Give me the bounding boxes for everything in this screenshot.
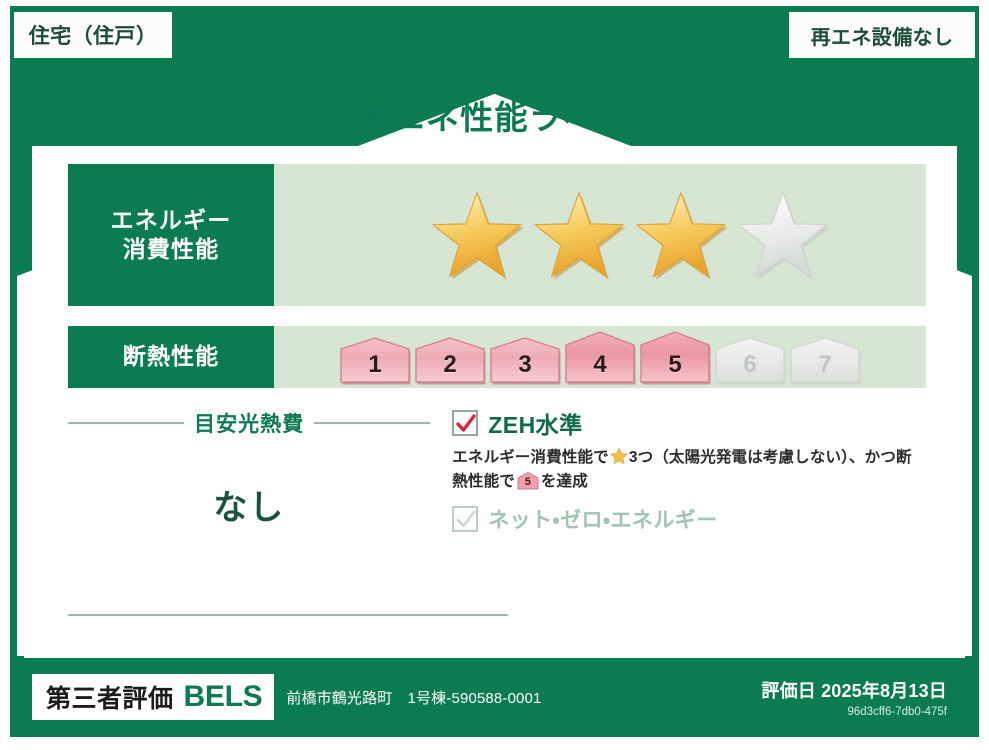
energy-performance-label: エネルギー 消費性能 — [68, 164, 274, 306]
mini-grade-badge: 5 — [517, 471, 539, 490]
category-chip: 住宅（住戸） — [14, 12, 172, 58]
insulation-grade-number: 2 — [413, 351, 487, 379]
rule-left — [68, 422, 184, 424]
energy-performance-body — [274, 164, 926, 306]
star-filled-icon — [429, 189, 525, 281]
utility-cost-block: 目安光熱費 なし — [68, 404, 430, 634]
zeh-checkbox[interactable] — [452, 410, 478, 436]
net-zero-energy-row[interactable]: ネット・ゼロ・エネルギー — [452, 504, 926, 534]
insulation-performance-row: 断熱性能 1234567 — [68, 326, 926, 388]
insulation-grade-number: 7 — [788, 351, 862, 379]
zeh-standard-label: ZEH水準 — [488, 406, 582, 440]
insulation-label-text: 断熱性能 — [123, 342, 220, 371]
star-filled-icon — [531, 189, 627, 281]
energy-label-line1: エネルギー — [111, 206, 232, 235]
info-section: 目安光熱費 なし ZEH水準 — [68, 404, 926, 634]
category-chip-label: 住宅（住戸） — [29, 20, 158, 50]
star-empty-icon — [735, 189, 831, 281]
zeh-desc-part1: エネルギー消費性能で — [452, 449, 609, 466]
insulation-grade-number: 4 — [563, 351, 637, 379]
bels-badge: 第三者評価 BELS — [32, 674, 274, 720]
mini-grade-number: 5 — [517, 474, 539, 491]
renewable-chip-label: 再エネ設備なし — [811, 21, 954, 50]
utility-cost-value: なし — [68, 480, 430, 529]
bels-energy-label: 住宅（住戸） 再エネ設備なし 建築物省エネ法に基づく 省エネ性能ラベル エネルギ… — [0, 0, 989, 750]
insulation-grade-7: 7 — [788, 336, 862, 385]
insulation-grade-number: 6 — [713, 351, 787, 379]
footer-bar: 第三者評価 BELS 前橋市鶴光路町 1号棟-590588-0001 評価日 2… — [32, 664, 957, 730]
insulation-grade-number: 5 — [638, 351, 712, 379]
star-rating — [429, 189, 831, 281]
evaluation-date: 評価日 2025年8月13日 — [761, 677, 947, 703]
insulation-grade-5: 5 — [638, 330, 712, 385]
zeh-desc-stars: 3つ — [629, 449, 653, 466]
label-card: 住宅（住戸） 再エネ設備なし 建築物省エネ法に基づく 省エネ性能ラベル エネルギ… — [10, 6, 979, 737]
star-filled-icon — [633, 189, 729, 281]
insulation-grade-3: 3 — [488, 336, 562, 385]
mini-star-icon — [610, 447, 628, 465]
check-icon-faded — [456, 510, 476, 530]
insulation-performance-label: 断熱性能 — [68, 326, 274, 388]
check-icon — [456, 414, 476, 434]
title-subtitle: 建築物省エネ法に基づく — [10, 72, 979, 95]
zeh-description: エネルギー消費性能で3つ（太陽光発電は考慮しない）、かつ断熱性能で5を達成 — [452, 446, 926, 494]
insulation-grade-scale: 1234567 — [338, 330, 862, 385]
net-zero-energy-checkbox[interactable] — [452, 506, 478, 532]
evaluation-id: 96d3cff6-7db0-475f — [761, 706, 947, 718]
title-block: 建築物省エネ法に基づく 省エネ性能ラベル — [10, 72, 979, 137]
insulation-grade-2: 2 — [413, 336, 487, 385]
utility-cost-heading: 目安光熱費 — [68, 408, 430, 438]
utility-cost-heading-label: 目安光熱費 — [194, 408, 304, 438]
bels-badge-en: BELS — [184, 680, 263, 714]
insulation-grade-number: 1 — [338, 351, 412, 379]
renewable-chip: 再エネ設備なし — [789, 12, 975, 58]
energy-performance-row: エネルギー 消費性能 — [68, 164, 926, 306]
zeh-desc-part3: を達成 — [541, 473, 588, 490]
insulation-grade-4: 4 — [563, 330, 637, 385]
footer-evaluation: 評価日 2025年8月13日 96d3cff6-7db0-475f — [761, 677, 957, 718]
insulation-grade-1: 1 — [338, 336, 412, 385]
bels-badge-jp: 第三者評価 — [46, 679, 174, 715]
page-title: 省エネ性能ラベル — [10, 99, 979, 137]
content-panel: エネルギー 消費性能 断熱性能 1234567 — [32, 146, 957, 656]
net-zero-energy-label: ネット・ゼロ・エネルギー — [488, 504, 717, 534]
zeh-standard-row[interactable]: ZEH水準 — [452, 406, 926, 440]
insulation-performance-body: 1234567 — [274, 326, 926, 388]
energy-label-line2: 消費性能 — [123, 235, 220, 264]
rule-right — [314, 422, 430, 424]
insulation-grade-number: 3 — [488, 351, 562, 379]
insulation-grade-6: 6 — [713, 336, 787, 385]
zeh-block: ZEH水準 エネルギー消費性能で3つ（太陽光発電は考慮しない）、かつ断熱性能で5… — [430, 404, 926, 634]
footer-address: 前橋市鶴光路町 1号棟-590588-0001 — [286, 687, 541, 708]
